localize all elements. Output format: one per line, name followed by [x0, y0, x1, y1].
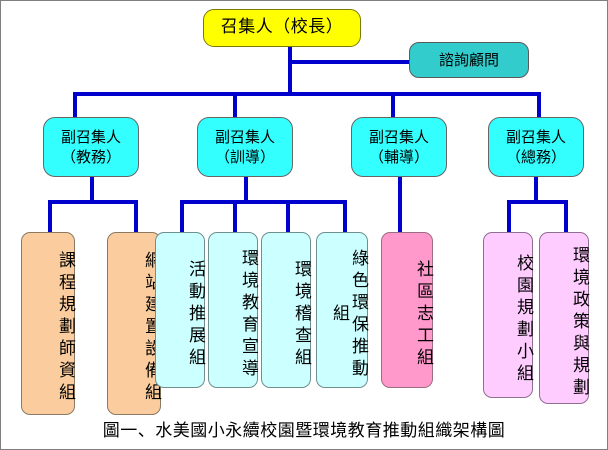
connector-deputy4-bus — [507, 200, 568, 204]
connector-deputy2-child2 — [233, 200, 237, 233]
node-deputy-general-affairs-label: 副召集人 （總務） — [506, 127, 566, 168]
unit-website-equipment[interactable]: 網站建置設備組 — [107, 232, 161, 415]
unit-activity-promotion[interactable]: 活動推展組 — [155, 232, 205, 388]
deputy4-line1: 副召集人 — [506, 128, 566, 146]
unit-environmental-policy-planning-label: 環境政策與規劃 — [569, 246, 588, 400]
node-deputy-counseling-label: 副召集人 （輔導） — [369, 127, 429, 168]
org-chart-canvas: 召集人（校長） 諮詢顧問 副召集人 （教務） 副召集人 （訓導） 副召集人 （輔… — [0, 0, 608, 450]
unit-green-environmental-protection-label: 綠色環保推動組 — [329, 242, 367, 387]
node-deputy-general-affairs[interactable]: 副召集人 （總務） — [488, 117, 584, 177]
connector-bus-drop-1 — [73, 92, 77, 118]
node-deputy-academic-affairs[interactable]: 副召集人 （教務） — [43, 117, 139, 177]
deputy4-line2: （總務） — [506, 148, 566, 166]
node-advisory-consultant[interactable]: 諮詢顧問 — [409, 42, 529, 78]
node-convener-principal[interactable]: 召集人（校長） — [203, 9, 361, 47]
unit-green-environmental-protection[interactable]: 綠色環保推動組 — [316, 232, 368, 388]
node-advisory-consultant-label: 諮詢顧問 — [439, 52, 499, 69]
connector-bus-drop-4 — [537, 92, 541, 118]
node-deputy-academic-affairs-label: 副召集人 （教務） — [61, 127, 121, 168]
connector-deputy2-bus — [180, 200, 347, 204]
connector-deputy1-stem — [90, 176, 94, 203]
connector-deputy1-child2 — [134, 200, 138, 233]
connector-root-to-advisor — [288, 60, 410, 64]
connector-deputy3-child1 — [398, 176, 402, 233]
node-deputy-counseling[interactable]: 副召集人 （輔導） — [351, 117, 447, 177]
unit-curriculum-planning-faculty[interactable]: 課程規劃師資組 — [21, 232, 75, 415]
unit-activity-promotion-label: 活動推展組 — [185, 260, 204, 370]
connector-root-stem — [288, 46, 292, 92]
deputy2-line2: （訓導） — [215, 148, 275, 166]
unit-campus-planning[interactable]: 校園規劃小組 — [483, 232, 533, 398]
connector-deputy1-bus — [48, 200, 138, 204]
connector-deputy4-stem — [534, 176, 538, 203]
unit-community-volunteer-label: 社區志工組 — [413, 260, 432, 370]
connector-deputy2-child4 — [343, 200, 347, 233]
connector-deputy2-child1 — [180, 200, 184, 233]
deputy3-line1: 副召集人 — [369, 128, 429, 146]
figure-caption: 圖一、水美國小永續校園暨環境教育推動組織架構圖 — [1, 416, 607, 441]
node-deputy-student-discipline-label: 副召集人 （訓導） — [215, 127, 275, 168]
connector-deputy4-child2 — [564, 200, 568, 233]
connector-bus-drop-3 — [391, 92, 395, 118]
deputy3-line2: （輔導） — [369, 148, 429, 166]
unit-environmental-policy-planning[interactable]: 環境政策與規劃 — [539, 232, 589, 404]
node-convener-principal-label: 召集人（校長） — [221, 18, 344, 37]
node-deputy-student-discipline[interactable]: 副召集人 （訓導） — [197, 117, 293, 177]
unit-environmental-education-outreach[interactable]: 環境教育宣導 — [208, 232, 258, 388]
unit-curriculum-planning-faculty-label: 課程規劃師資組 — [55, 251, 74, 405]
connector-main-bus — [73, 92, 541, 96]
unit-environmental-inspection-label: 環境稽查組 — [291, 260, 310, 370]
connector-bus-drop-2 — [233, 92, 237, 118]
connector-deputy2-stem — [244, 176, 248, 203]
deputy1-line1: 副召集人 — [61, 128, 121, 146]
connector-deputy2-child3 — [286, 200, 290, 233]
unit-environmental-inspection[interactable]: 環境稽查組 — [261, 232, 311, 388]
connector-deputy4-child1 — [507, 200, 511, 233]
unit-community-volunteer[interactable]: 社區志工組 — [381, 232, 433, 388]
deputy1-line2: （教務） — [61, 148, 121, 166]
unit-campus-planning-label: 校園規劃小組 — [513, 254, 532, 386]
connector-deputy1-child1 — [48, 200, 52, 233]
unit-environmental-education-outreach-label: 環境教育宣導 — [238, 249, 257, 381]
deputy2-line1: 副召集人 — [215, 128, 275, 146]
